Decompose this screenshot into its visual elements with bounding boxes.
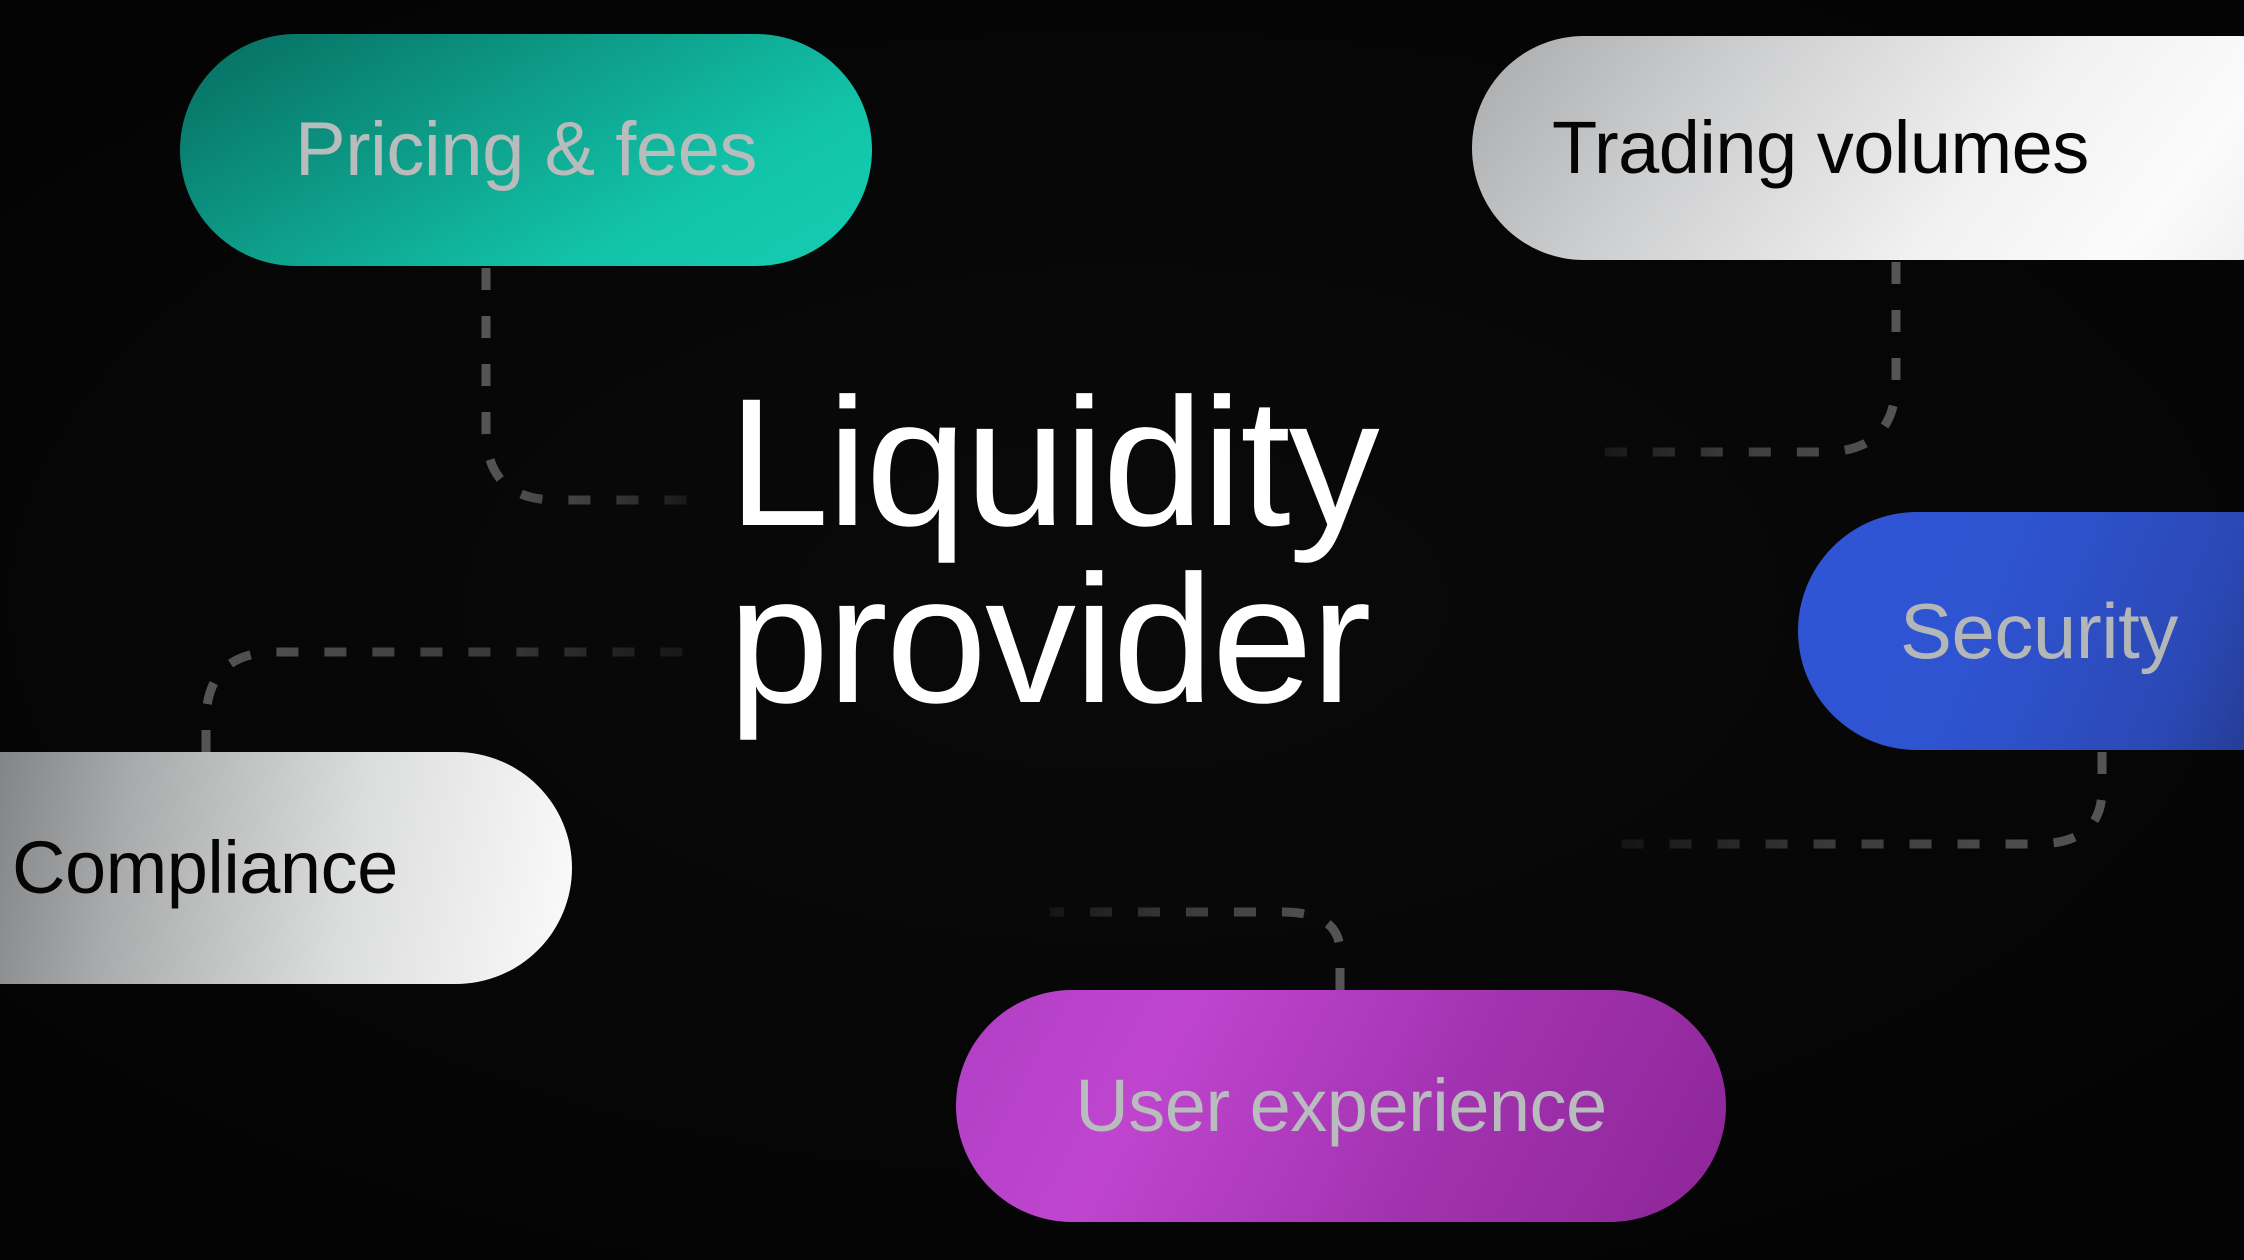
- node-pill-compliance[interactable]: Compliance: [0, 752, 572, 984]
- node-pill-security[interactable]: Security: [1798, 512, 2244, 750]
- connector-security: [1620, 752, 2102, 844]
- center-hub-title: Liquidity provider: [728, 374, 1548, 727]
- connector-ux: [1050, 912, 1340, 990]
- connector-compliance: [206, 652, 700, 752]
- node-label-security: Security: [1900, 592, 2178, 670]
- node-label-compliance: Compliance: [12, 831, 398, 905]
- node-pill-user-experience[interactable]: User experience: [956, 990, 1726, 1222]
- node-label-pricing-and-fees: Pricing & fees: [295, 112, 757, 188]
- diagram-canvas: Liquidity provider Pricing & fees Tradin…: [0, 0, 2244, 1260]
- connector-trading: [1592, 262, 1896, 452]
- center-title-line-1: Liquidity: [728, 374, 1548, 551]
- connector-pricing: [486, 268, 700, 500]
- node-pill-pricing-and-fees[interactable]: Pricing & fees: [180, 34, 872, 266]
- node-pill-trading-volumes[interactable]: Trading volumes: [1472, 36, 2244, 260]
- node-label-trading-volumes: Trading volumes: [1552, 111, 2089, 185]
- node-label-user-experience: User experience: [1075, 1069, 1606, 1143]
- center-title-line-2: provider: [728, 551, 1548, 728]
